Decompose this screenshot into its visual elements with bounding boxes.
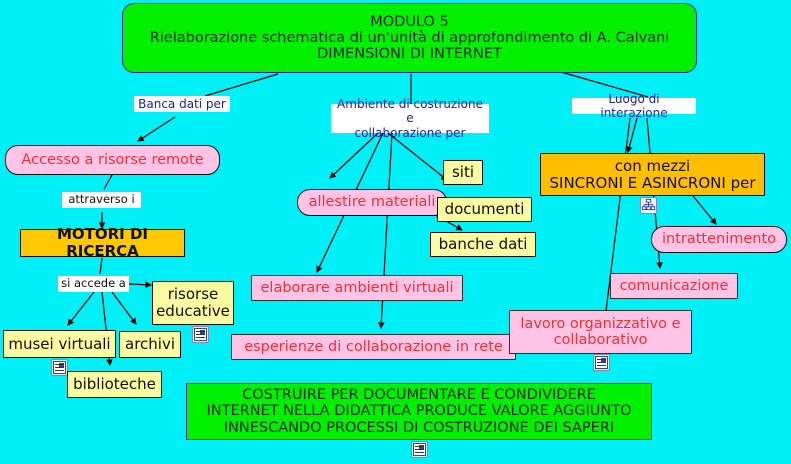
link-label-si-accede: si accede a xyxy=(58,276,129,292)
link-label-luogo: Luogo di interazione xyxy=(572,98,696,114)
submap-link-icon-con-mezzi[interactable] xyxy=(640,197,657,214)
title-node[interactable]: MODULO 5 Rielaborazione schematica di un… xyxy=(122,3,697,73)
node-intrattenimento[interactable]: intrattenimento xyxy=(651,226,787,253)
node-comunicazione[interactable]: comunicazione xyxy=(610,273,738,299)
node-siti[interactable]: siti xyxy=(443,160,483,185)
document-resource-icon-risorse-educative[interactable] xyxy=(192,326,209,343)
node-documenti[interactable]: documenti xyxy=(437,197,532,222)
node-esperienze-collaborazione-rete[interactable]: esperienze di collaborazione in rete xyxy=(231,334,516,360)
node-risorse-educative[interactable]: risorse educative xyxy=(152,281,234,325)
node-allestire-materiali[interactable]: allestire materiali xyxy=(297,189,447,216)
node-conclusione[interactable]: COSTRUIRE PER DOCUMENTARE E CONDIVIDERE … xyxy=(186,383,652,440)
node-lavoro-organizzativo-collaborativo[interactable]: lavoro organizzativo e collaborativo xyxy=(509,310,692,354)
node-accesso-risorse-remote[interactable]: Accesso a risorse remote xyxy=(5,145,220,175)
node-biblioteche[interactable]: biblioteche xyxy=(67,371,162,398)
node-elaborare-ambienti-virtuali[interactable]: elaborare ambienti virtuali xyxy=(251,275,463,301)
link-label-attraverso: attraverso i xyxy=(62,192,141,208)
node-archivi[interactable]: archivi xyxy=(119,331,181,358)
node-musei-virtuali[interactable]: musei virtuali xyxy=(3,330,116,358)
concept-map-canvas: MODULO 5 Rielaborazione schematica di un… xyxy=(0,0,791,464)
document-resource-icon-lavoro[interactable] xyxy=(593,354,610,371)
document-resource-icon-conclusione[interactable] xyxy=(411,441,428,458)
document-resource-icon-musei-virtuali[interactable] xyxy=(51,359,68,376)
link-label-banca-dati: Banca dati per xyxy=(134,96,230,112)
node-con-mezzi-sincroni-asincroni[interactable]: con mezzi SINCRONI E ASINCRONI per xyxy=(540,153,765,196)
node-motori-di-ricerca[interactable]: MOTORI DI RICERCA xyxy=(20,229,185,257)
node-banche-dati[interactable]: banche dati xyxy=(430,232,536,257)
link-label-ambiente: Ambiente di costruzione e collaborazione… xyxy=(331,104,489,133)
